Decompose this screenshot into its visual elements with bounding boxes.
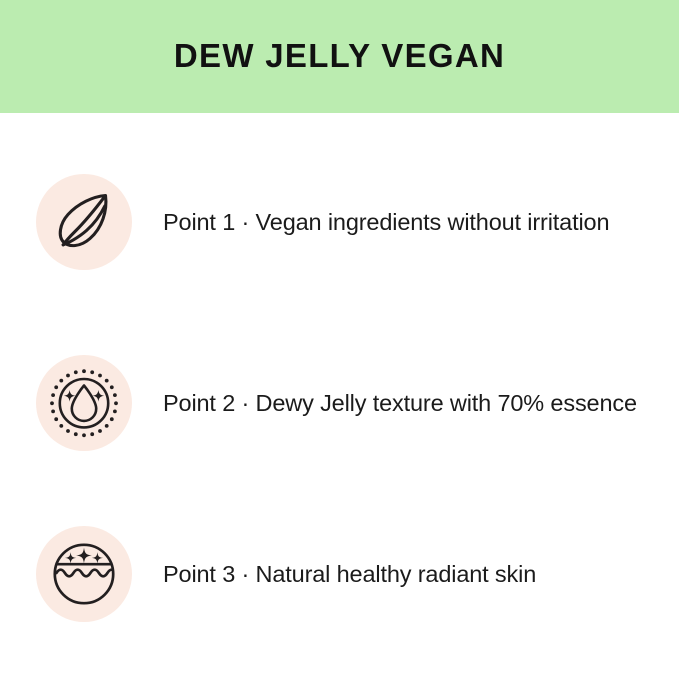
feature-text: Point 2 · Dewy Jelly texture with 70% es… [163, 389, 637, 417]
list-item: Point 3 · Natural healthy radiant skin [36, 526, 676, 622]
leaf-icon [55, 191, 113, 253]
feature-icon-badge [36, 355, 132, 451]
product-feature-infographic: DEW JELLY VEGAN Point 1 · Vegan ingredie… [0, 0, 679, 679]
feature-icon-badge [36, 526, 132, 622]
list-item: Point 2 · Dewy Jelly texture with 70% es… [36, 355, 676, 451]
header-banner: DEW JELLY VEGAN [0, 0, 679, 113]
water-droplet-sparkle-icon [49, 368, 119, 438]
radiant-skin-icon [52, 542, 116, 606]
feature-list: Point 1 · Vegan ingredients without irri… [0, 113, 679, 679]
page-title: DEW JELLY VEGAN [174, 39, 505, 72]
feature-text: Point 3 · Natural healthy radiant skin [163, 560, 536, 588]
feature-text: Point 1 · Vegan ingredients without irri… [163, 208, 609, 236]
feature-icon-badge [36, 174, 132, 270]
list-item: Point 1 · Vegan ingredients without irri… [36, 174, 676, 270]
